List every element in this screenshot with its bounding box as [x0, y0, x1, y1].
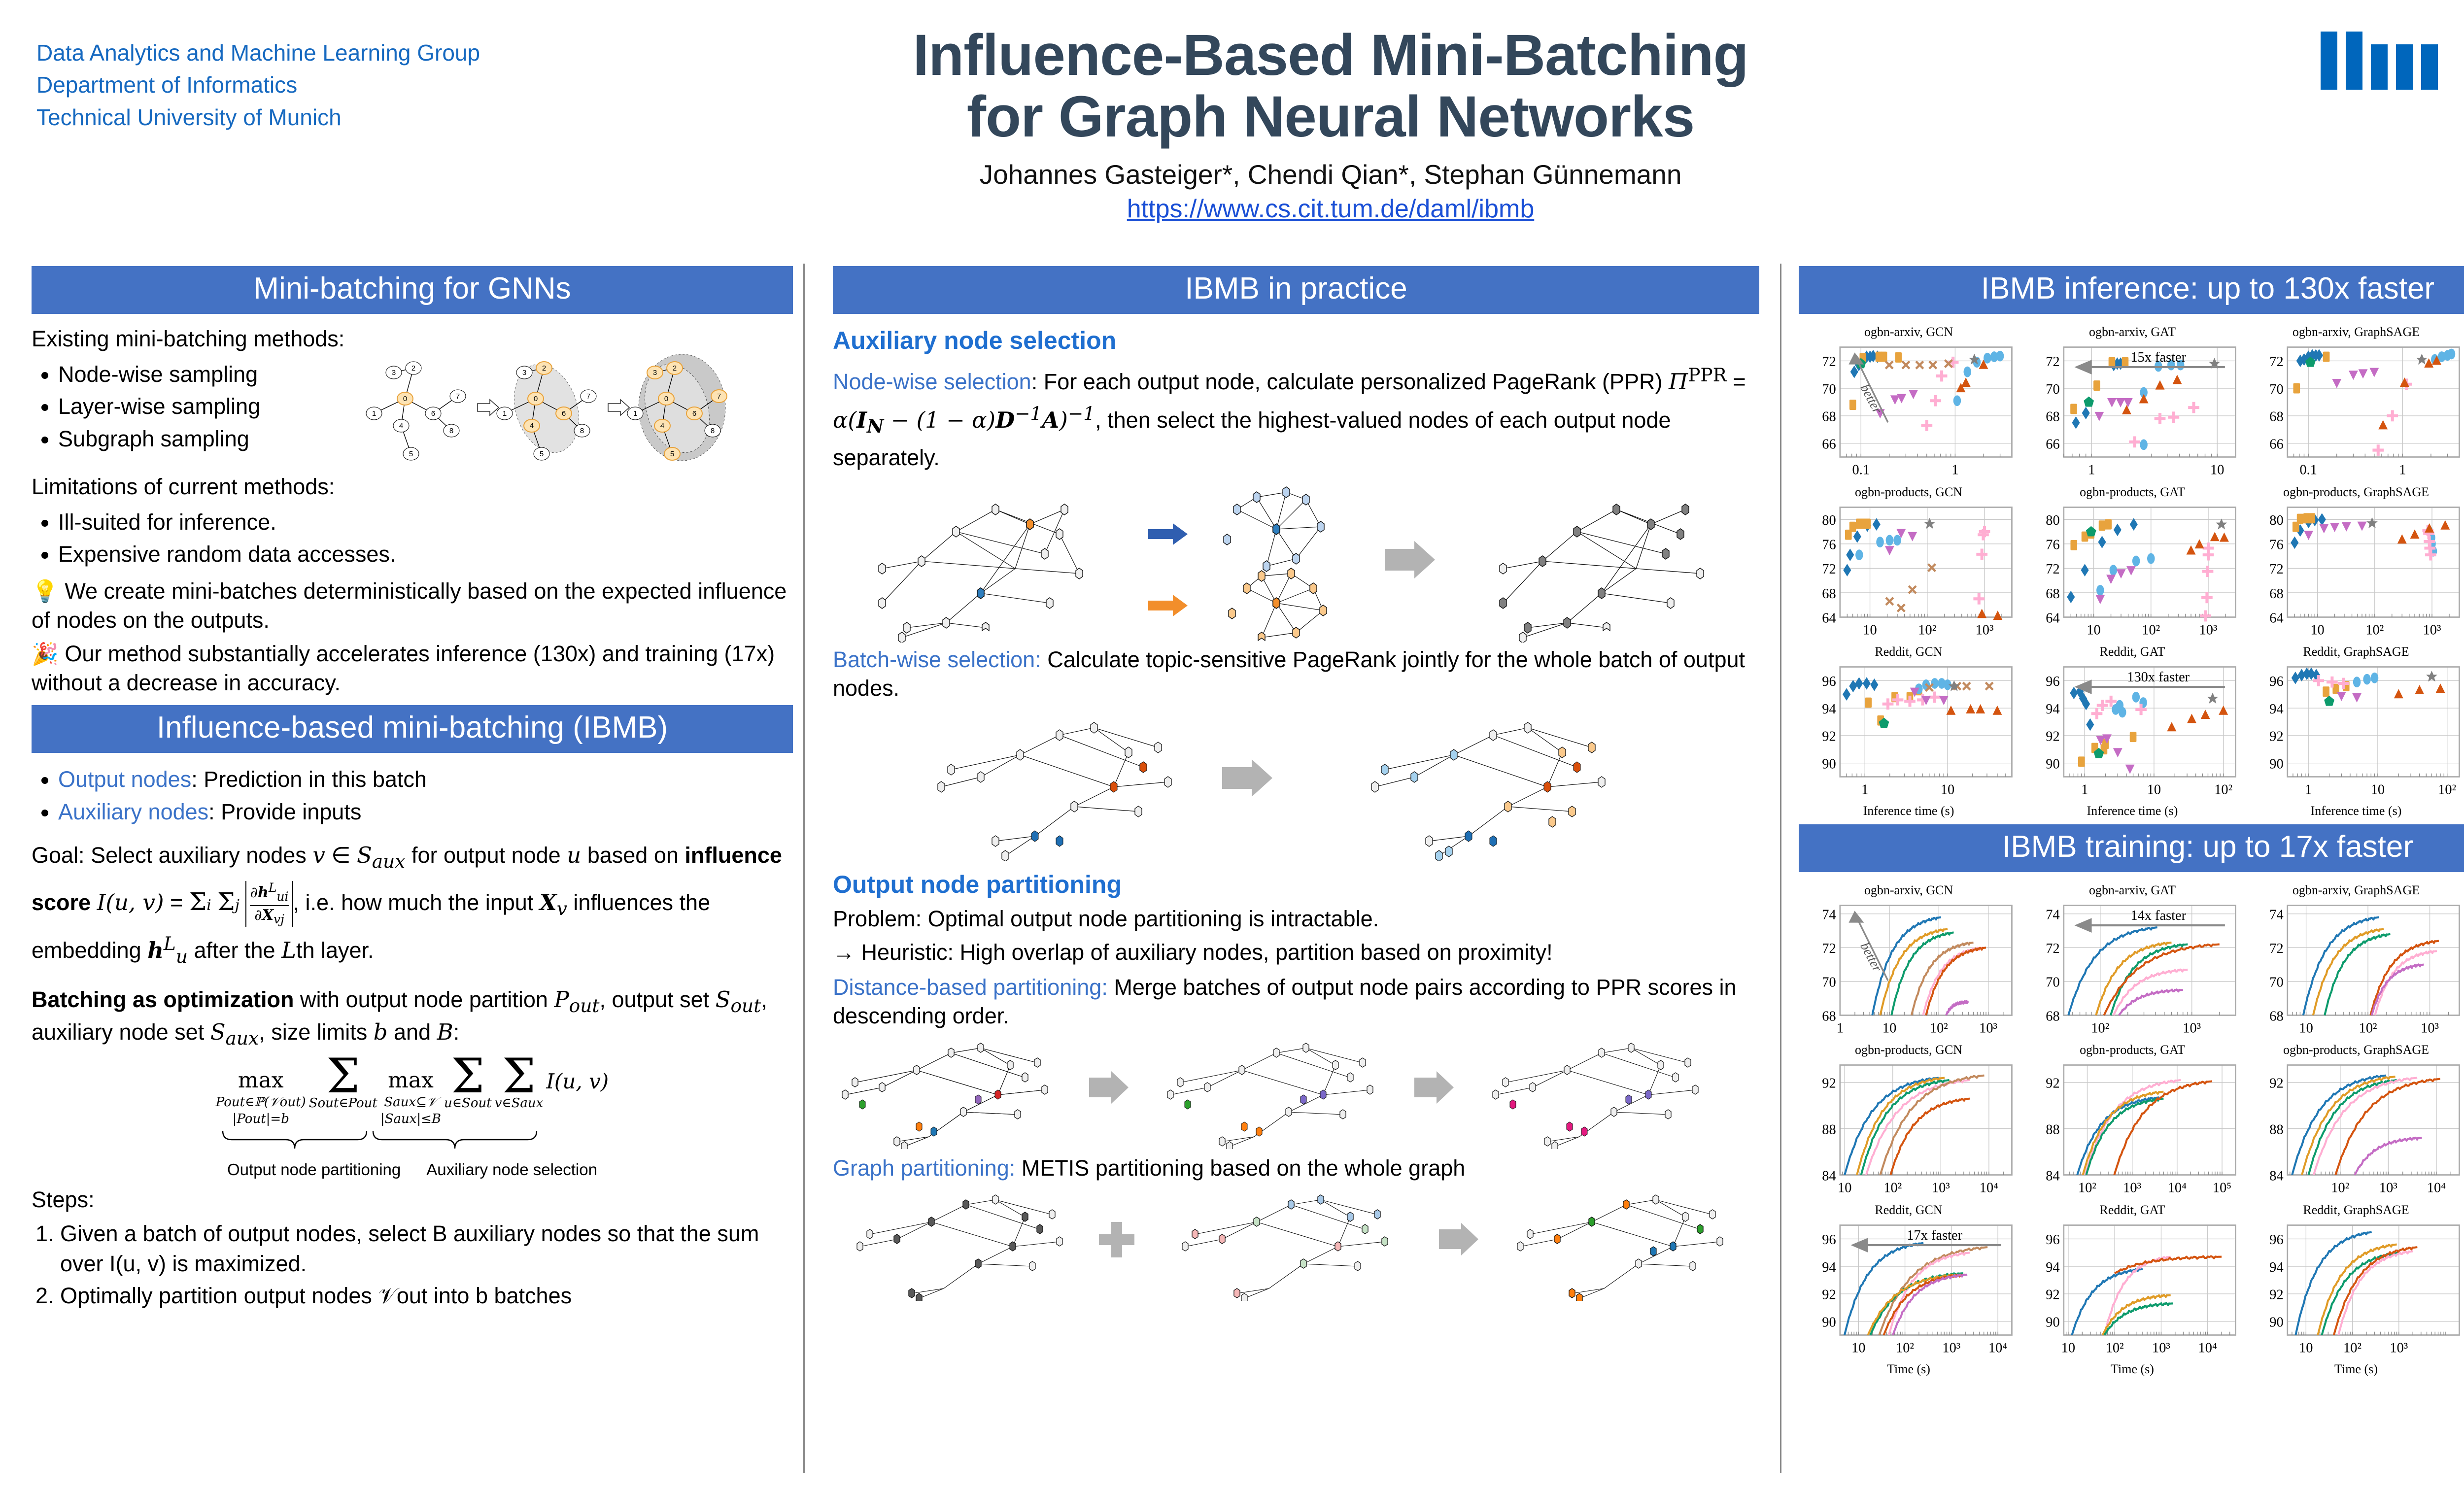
svg-text:2: 2: [411, 364, 415, 372]
svg-text:92: 92: [1822, 1287, 1836, 1303]
list-item: Given a batch of output nodes, select B …: [60, 1219, 793, 1279]
svg-text:10³: 10³: [1979, 1021, 1997, 1036]
chart-cell: ogbn-arxiv, GraphSAGE 687072741010²10³: [2246, 883, 2464, 1042]
grey-arrow-icon: [1414, 1071, 1454, 1104]
svg-text:74: 74: [2046, 907, 2059, 922]
chart-xlabel: Time (s): [2246, 1362, 2464, 1377]
chart-cell: ogbn-products, GCN 64687276801010²10³: [1799, 485, 2019, 644]
svg-text:66: 66: [2046, 437, 2059, 452]
page-title: Influence-Based Mini-Batching for Graph …: [769, 25, 1892, 148]
svg-text:64: 64: [1822, 610, 1836, 626]
svg-text:10⁴: 10⁴: [1988, 1341, 2007, 1356]
svg-text:68: 68: [2046, 586, 2059, 601]
chart-tr-arxiv-gcn: 6870727411010²10³ better: [1799, 899, 2019, 1042]
column-divider-2: [1780, 264, 1781, 1473]
svg-text:70: 70: [1822, 975, 1836, 990]
highlighted-output-node-orange: [1027, 519, 1033, 530]
chart-title: ogbn-products, GCN: [1799, 485, 2019, 500]
svg-text:68: 68: [1822, 1009, 1836, 1024]
svg-text:72: 72: [2046, 941, 2059, 956]
svg-text:70: 70: [2046, 382, 2059, 397]
svg-text:10²: 10²: [2214, 782, 2232, 798]
formula-max1-sub1: Pout∈ℙ(𝒱out): [216, 1094, 306, 1111]
training-results-area: ogbn-arxiv, GCN 6870727411010²10³ better…: [1799, 883, 2464, 1377]
formula-max2-sub2: |Saux|≤B: [380, 1111, 441, 1128]
svg-text:94: 94: [2046, 1260, 2059, 1275]
result-text: Our method substantially accelerates inf…: [32, 641, 775, 695]
goal-paragraph: Goal: Select auxiliary nodes v ∈ Saux fo…: [32, 835, 793, 974]
svg-text:72: 72: [2269, 562, 2283, 577]
svg-text:10²: 10²: [2142, 622, 2160, 638]
tum-logo: [2321, 32, 2446, 90]
svg-text:8: 8: [449, 427, 453, 435]
svg-text:7: 7: [456, 392, 460, 401]
subheading-output-partitioning: Output node partitioning: [833, 869, 1759, 901]
chart-cell: ogbn-arxiv, GCN 666870720.11 better: [1799, 325, 2019, 484]
chart-xlabel: Inference time (s): [2246, 804, 2464, 818]
chart-title: ogbn-arxiv, GraphSAGE: [2246, 325, 2464, 339]
chart-cell: Reddit, GraphSAGE 909294961010²10³ Time …: [2246, 1203, 2464, 1377]
logo-block: L G: [2321, 24, 2464, 98]
svg-text:6: 6: [692, 409, 696, 418]
batchwise-paragraph: Batch-wise selection: Calculate topic-se…: [833, 645, 1759, 703]
svg-text:80: 80: [2046, 513, 2059, 528]
svg-text:76: 76: [2046, 537, 2059, 552]
chart-title: ogbn-products, GraphSAGE: [2246, 485, 2464, 500]
chart-cell: Reddit, GCN 909294961010²10³10⁴ 17x fast…: [1799, 1203, 2019, 1377]
chart-cell: Reddit, GraphSAGE 9092949611010² Inferen…: [2246, 644, 2464, 818]
batching-paragraph: Batching as optimization with output nod…: [32, 985, 793, 1050]
svg-text:96: 96: [2046, 674, 2059, 689]
graphpart-term: Graph partitioning:: [833, 1155, 1015, 1181]
svg-text:10³: 10³: [2421, 1021, 2439, 1036]
svg-text:10³: 10³: [2152, 1341, 2170, 1356]
distance-partitioning-figure: [833, 1036, 1759, 1149]
optimization-formula: max Pout∈ℙ(𝒱out) |Pout|=b Σ Sout∈Pout ma…: [32, 1057, 793, 1181]
affiliation-line-1: Data Analytics and Machine Learning Grou…: [36, 37, 480, 69]
svg-text:84: 84: [1822, 1169, 1836, 1184]
svg-text:72: 72: [2269, 354, 2283, 370]
formula-sum1-sub: Sout∈Pout: [309, 1095, 377, 1112]
graphpart-text: METIS partitioning based on the whole gr…: [1015, 1155, 1465, 1181]
brace-label-right: Auxiliary node selection: [426, 1159, 597, 1181]
svg-text:10³: 10³: [1942, 1341, 1960, 1356]
svg-text:96: 96: [2269, 674, 2283, 689]
formula-braces: [141, 1128, 684, 1162]
svg-text:68: 68: [1822, 586, 1836, 601]
svg-text:10: 10: [1882, 1021, 1896, 1036]
node-type-list: Output nodes: Prediction in this batch A…: [32, 764, 793, 828]
svg-text:10: 10: [2087, 622, 2100, 638]
minibatching-diagram: 3 2 0 1 4 5 6 7 8: [347, 325, 793, 473]
chart-cell: ogbn-products, GraphSAGE 84889210²10³10⁴: [2246, 1043, 2464, 1202]
chart-cell: ogbn-arxiv, GCN 6870727411010²10³ better: [1799, 883, 2019, 1042]
svg-text:72: 72: [2046, 562, 2059, 577]
orange-arrow-icon: [1148, 595, 1188, 616]
grey-arrow-icon: [1222, 759, 1272, 797]
left-column: Mini-batching for GNNs Existing mini-bat…: [32, 266, 793, 1313]
svg-text:90: 90: [1822, 1315, 1836, 1330]
inference-chart-grid: ogbn-arxiv, GCN 666870720.11 better ogbn…: [1799, 325, 2464, 818]
list-item: Optimally partition output nodes 𝒱out in…: [60, 1281, 793, 1311]
svg-text:10: 10: [2061, 1341, 2075, 1356]
svg-text:96: 96: [2269, 1232, 2283, 1248]
svg-text:0: 0: [403, 395, 407, 403]
chart-cell: Reddit, GAT 909294961010²10³10⁴ Time (s): [2022, 1203, 2242, 1377]
practice-body: Auxiliary node selection Node-wise selec…: [833, 325, 1759, 1301]
svg-text:1: 1: [372, 409, 376, 418]
svg-text:74: 74: [1822, 907, 1836, 922]
nodewise-selection-figure: [833, 480, 1759, 643]
limitations-list: Ill-suited for inference. Expensive rand…: [32, 507, 793, 571]
formula-sum2-sub: u∈Sout: [444, 1095, 492, 1112]
svg-text:88: 88: [1822, 1122, 1836, 1138]
svg-text:10²: 10²: [2331, 1181, 2349, 1196]
output-nodes-term: Output nodes: [58, 767, 191, 792]
chart-xlabel: Inference time (s): [1799, 804, 2019, 818]
chart-tr-reddit-gat: 909294961010²10³10⁴: [2022, 1219, 2242, 1362]
batching-bold: Batching as optimization: [32, 987, 294, 1012]
chart-inf-reddit-gcn: 90929496110: [1799, 660, 2019, 804]
svg-text:10: 10: [2210, 463, 2224, 478]
chart-inf-arxiv-sage: 666870720.11: [2246, 340, 2464, 484]
chart-cell: ogbn-products, GCN 8488921010²10³10⁴: [1799, 1043, 2019, 1202]
svg-text:94: 94: [2269, 1260, 2283, 1275]
result-line: 🎉 Our method substantially accelerates i…: [32, 640, 793, 697]
svg-text:10³: 10³: [2390, 1341, 2408, 1356]
svg-text:96: 96: [1822, 1232, 1836, 1248]
svg-text:1: 1: [2088, 463, 2095, 478]
svg-text:94: 94: [1822, 702, 1836, 717]
output-nodes-desc: : Prediction in this batch: [191, 767, 427, 792]
chart-cell: ogbn-products, GraphSAGE 64687276801010²…: [2246, 485, 2464, 644]
svg-text:70: 70: [1822, 382, 1836, 397]
svg-text:10²: 10²: [1896, 1341, 1914, 1356]
formula-max2-sub1: Saux⊆𝒱: [380, 1094, 441, 1111]
right-column: IBMB inference: up to 130x faster ogbn-a…: [1799, 266, 2464, 1377]
svg-text:92: 92: [2269, 1287, 2283, 1303]
grey-arrow-icon: [1439, 1223, 1478, 1255]
svg-text:70: 70: [2046, 975, 2059, 990]
highlighted-output-node-blue: [977, 588, 984, 599]
svg-text:66: 66: [2269, 437, 2283, 452]
list-item: Layer-wise sampling: [58, 391, 347, 422]
svg-text:10²: 10²: [2359, 1021, 2377, 1036]
svg-text:68: 68: [2269, 409, 2283, 425]
svg-text:10³: 10³: [2123, 1181, 2141, 1196]
column-divider-1: [803, 264, 805, 1473]
author-list: Johannes Gasteiger*, Chendi Qian*, Steph…: [769, 159, 1892, 190]
chart-inf-products-gat: 64687276801010²10³: [2022, 501, 2242, 644]
svg-text:94: 94: [2269, 702, 2283, 717]
graphpart-paragraph: Graph partitioning: METIS partitioning b…: [833, 1154, 1759, 1183]
chart-tr-arxiv-gat: 6870727410²10³ 14x faster: [2022, 899, 2242, 1042]
svg-text:64: 64: [2269, 610, 2283, 626]
svg-text:10²: 10²: [2078, 1181, 2096, 1196]
svg-text:68: 68: [2046, 1009, 2059, 1024]
svg-text:2: 2: [673, 364, 677, 372]
svg-text:5: 5: [409, 450, 413, 458]
batchwise-selection-figure: [833, 708, 1759, 861]
svg-text:3: 3: [392, 369, 396, 377]
svg-text:0.1: 0.1: [1852, 463, 1869, 478]
svg-text:5: 5: [540, 450, 544, 458]
svg-text:10³: 10³: [2423, 622, 2441, 638]
svg-text:88: 88: [2046, 1122, 2059, 1138]
distance-term: Distance-based partitioning:: [833, 975, 1108, 1000]
svg-text:1: 1: [1837, 1021, 1844, 1036]
svg-text:72: 72: [1822, 941, 1836, 956]
chart-inf-products-sage: 64687276801010²10³: [2246, 501, 2464, 644]
grey-arrow-icon: [1385, 541, 1435, 578]
lightbulb-icon: 💡: [32, 579, 59, 604]
limitations-label: Limitations of current methods:: [32, 473, 793, 502]
chart-cell: Reddit, GCN 90929496110 Inference time (…: [1799, 644, 2019, 818]
formula-max1: max: [216, 1066, 306, 1094]
svg-text:better: better: [1857, 381, 1885, 416]
list-item: Ill-suited for inference.: [58, 507, 793, 538]
svg-text:10: 10: [1851, 1341, 1865, 1356]
svg-text:64: 64: [2046, 610, 2059, 626]
ibmb-body: Output nodes: Prediction in this batch A…: [32, 764, 793, 1311]
svg-text:4: 4: [530, 422, 534, 430]
section-header-ibmb: Influence-based mini-batching (IBMB): [32, 705, 793, 753]
formula-sum3-sub: v∈Saux: [495, 1095, 544, 1112]
svg-text:15x faster: 15x faster: [2130, 350, 2186, 365]
svg-text:1: 1: [633, 409, 637, 418]
svg-text:14x faster: 14x faster: [2130, 908, 2186, 923]
affiliation-line-2: Department of Informatics: [36, 69, 480, 101]
svg-text:3: 3: [522, 369, 526, 377]
chart-tr-reddit-gcn: 909294961010²10³10⁴ 17x faster: [1799, 1219, 2019, 1362]
middle-column: IBMB in practice Auxiliary node selectio…: [833, 266, 1759, 1301]
svg-text:10: 10: [1941, 782, 1954, 798]
svg-text:2: 2: [542, 364, 546, 372]
chart-title: ogbn-products, GCN: [1799, 1043, 2019, 1057]
svg-text:96: 96: [1822, 674, 1836, 689]
chart-cell: ogbn-arxiv, GraphSAGE 666870720.11: [2246, 325, 2464, 484]
svg-text:72: 72: [1822, 562, 1836, 577]
svg-text:10⁴: 10⁴: [2427, 1181, 2446, 1196]
affiliation-line-3: Technical University of Munich: [36, 102, 480, 134]
svg-text:10²: 10²: [2091, 1021, 2109, 1036]
plus-sign-icon: [1099, 1222, 1134, 1257]
svg-text:0: 0: [534, 395, 538, 403]
chart-cell: ogbn-products, GAT 64687276801010²10³: [2022, 485, 2242, 644]
svg-text:10³: 10³: [1976, 622, 1994, 638]
section-header-training: IBMB training: up to 17x faster: [1799, 824, 2464, 872]
svg-text:10³: 10³: [2183, 1021, 2201, 1036]
section-header-inference: IBMB inference: up to 130x faster: [1799, 266, 2464, 314]
svg-text:68: 68: [2269, 586, 2283, 601]
chart-tr-arxiv-sage: 687072741010²10³: [2246, 899, 2464, 1042]
svg-text:90: 90: [2269, 757, 2283, 772]
svg-text:1: 1: [1861, 782, 1868, 798]
chart-cell: ogbn-arxiv, GAT 6870727410²10³ 14x faste…: [2022, 883, 2242, 1042]
insight-line: 💡 We create mini-batches deterministical…: [32, 577, 793, 635]
svg-text:1: 1: [2305, 782, 2312, 798]
blue-arrow-icon: [1148, 523, 1188, 545]
auxiliary-nodes-term: Auxiliary nodes: [58, 799, 208, 824]
svg-text:90: 90: [2046, 1315, 2059, 1330]
problem-text: Problem: Optimal output node partitionin…: [833, 905, 1759, 934]
svg-text:70: 70: [2269, 382, 2283, 397]
list-item: Auxiliary nodes: Provide inputs: [58, 796, 793, 828]
formula-objective: I(u, v): [546, 1057, 609, 1095]
svg-text:92: 92: [2269, 729, 2283, 745]
brace-label-left: Output node partitioning: [227, 1159, 401, 1181]
chart-title: ogbn-products, GraphSAGE: [2246, 1043, 2464, 1057]
svg-text:10²: 10²: [1930, 1021, 1948, 1036]
chart-title: Reddit, GraphSAGE: [2246, 1203, 2464, 1218]
list-item: Output nodes: Prediction in this batch: [58, 764, 793, 795]
svg-text:7: 7: [717, 392, 721, 401]
svg-text:92: 92: [2046, 1287, 2059, 1303]
chart-xlabel: Inference time (s): [2022, 804, 2242, 818]
svg-text:92: 92: [1822, 1076, 1836, 1091]
party-popper-icon: 🎉: [32, 642, 59, 666]
svg-text:90: 90: [1822, 757, 1836, 772]
chart-inf-reddit-gat: 9092949611010² 130x faster: [2022, 660, 2242, 804]
svg-text:74: 74: [2269, 907, 2283, 922]
svg-text:10²: 10²: [2106, 1341, 2124, 1356]
page-title-line-2: for Graph Neural Networks: [769, 86, 1892, 148]
steps-list: Given a batch of output nodes, select B …: [32, 1219, 793, 1311]
existing-methods-label: Existing mini-batching methods:: [32, 325, 347, 354]
svg-text:90: 90: [2269, 1315, 2283, 1330]
svg-text:10³: 10³: [2379, 1181, 2397, 1196]
chart-title: Reddit, GCN: [1799, 1203, 2019, 1218]
training-chart-grid: ogbn-arxiv, GCN 6870727411010²10³ better…: [1799, 883, 2464, 1377]
svg-text:80: 80: [2269, 513, 2283, 528]
svg-text:10: 10: [2299, 1341, 2313, 1356]
svg-text:10²: 10²: [2343, 1341, 2361, 1356]
chart-tr-products-gcn: 8488921010²10³10⁴: [1799, 1058, 2019, 1202]
chart-inf-products-gcn: 64687276801010²10³: [1799, 501, 2019, 644]
svg-text:10⁴: 10⁴: [1980, 1181, 1998, 1196]
svg-text:92: 92: [2269, 1076, 2283, 1091]
svg-text:10²: 10²: [2365, 622, 2384, 638]
svg-text:6: 6: [431, 409, 435, 418]
svg-text:70: 70: [2269, 975, 2283, 990]
list-item: Node-wise sampling: [58, 359, 347, 390]
svg-text:3: 3: [653, 369, 657, 377]
svg-text:92: 92: [1822, 729, 1836, 745]
distance-paragraph: Distance-based partitioning: Merge batch…: [833, 973, 1759, 1031]
svg-text:0: 0: [664, 395, 668, 403]
svg-text:10: 10: [2299, 1021, 2313, 1036]
svg-text:1: 1: [2081, 782, 2088, 798]
chart-title: ogbn-arxiv, GAT: [2022, 325, 2242, 339]
chart-title: Reddit, GCN: [1799, 644, 2019, 659]
svg-text:6: 6: [562, 409, 566, 418]
chart-cell: ogbn-arxiv, GAT 66687072110 15x faster: [2022, 325, 2242, 484]
svg-text:10⁴: 10⁴: [2198, 1341, 2217, 1356]
svg-text:72: 72: [1822, 354, 1836, 370]
svg-text:17x faster: 17x faster: [1907, 1228, 1962, 1243]
list-item: Subgraph sampling: [58, 423, 347, 455]
svg-text:10: 10: [2310, 622, 2324, 638]
svg-text:92: 92: [2046, 1076, 2059, 1091]
auxiliary-nodes-desc: : Provide inputs: [208, 799, 361, 824]
list-item: Expensive random data accesses.: [58, 539, 793, 570]
svg-text:68: 68: [2046, 409, 2059, 425]
svg-text:68: 68: [2269, 1009, 2283, 1024]
svg-text:10²: 10²: [1883, 1181, 1902, 1196]
chart-inf-arxiv-gcn: 666870720.11 better: [1799, 340, 2019, 484]
svg-text:better: better: [1857, 940, 1885, 974]
svg-text:96: 96: [2046, 1232, 2059, 1248]
svg-text:66: 66: [1822, 437, 1836, 452]
inference-results-area: ogbn-arxiv, GCN 666870720.11 better ogbn…: [1799, 325, 2464, 818]
chart-title: ogbn-arxiv, GCN: [1799, 325, 2019, 339]
svg-text:10³: 10³: [1932, 1181, 1950, 1196]
svg-text:72: 72: [2046, 354, 2059, 370]
graph-partitioning-figure: [833, 1187, 1759, 1301]
svg-text:76: 76: [1822, 537, 1836, 552]
chart-title: ogbn-products, GAT: [2022, 1043, 2242, 1057]
section-header-practice: IBMB in practice: [833, 266, 1759, 314]
svg-text:10³: 10³: [2199, 622, 2218, 638]
existing-methods-list: Node-wise sampling Layer-wise sampling S…: [32, 359, 347, 455]
chart-inf-reddit-sage: 9092949611010²: [2246, 660, 2464, 804]
svg-text:72: 72: [2269, 941, 2283, 956]
affiliation-block: Data Analytics and Machine Learning Grou…: [36, 37, 480, 134]
heuristic-text: → Heuristic: High overlap of auxiliary n…: [833, 938, 1759, 967]
chart-title: ogbn-arxiv, GCN: [1799, 883, 2019, 898]
title-block: Influence-Based Mini-Batching for Graph …: [769, 25, 1892, 224]
svg-text:8: 8: [580, 427, 584, 435]
svg-text:1: 1: [503, 409, 507, 418]
chart-title: ogbn-arxiv, GAT: [2022, 883, 2242, 898]
svg-text:88: 88: [2269, 1122, 2283, 1138]
formula-max2: max: [380, 1066, 441, 1094]
grey-arrow-icon: [1089, 1071, 1129, 1104]
svg-text:10⁵: 10⁵: [2213, 1181, 2231, 1196]
insight-text: We create mini-batches deterministically…: [32, 578, 787, 633]
svg-text:1: 1: [1951, 463, 1958, 478]
chart-title: ogbn-products, GAT: [2022, 485, 2242, 500]
section-header-minibatching: Mini-batching for GNNs: [32, 266, 793, 314]
svg-text:84: 84: [2046, 1169, 2059, 1184]
svg-text:80: 80: [1822, 513, 1836, 528]
chart-title: Reddit, GraphSAGE: [2246, 644, 2464, 659]
svg-text:90: 90: [2046, 757, 2059, 772]
svg-text:5: 5: [670, 450, 674, 458]
nodewise-term: Node-wise selection: [833, 369, 1031, 394]
batchwise-term: Batch-wise selection:: [833, 647, 1041, 672]
chart-title: ogbn-arxiv, GraphSAGE: [2246, 883, 2464, 898]
svg-text:7: 7: [586, 392, 590, 401]
svg-text:10²: 10²: [1918, 622, 1936, 638]
project-url-link[interactable]: https://www.cs.cit.tum.de/daml/ibmb: [769, 194, 1892, 224]
svg-text:94: 94: [2046, 702, 2059, 717]
svg-text:130x faster: 130x faster: [2127, 670, 2190, 685]
svg-text:10: 10: [1838, 1181, 1851, 1196]
steps-label: Steps:: [32, 1185, 793, 1215]
svg-text:10²: 10²: [2438, 782, 2456, 798]
subheading-auxiliary-selection: Auxiliary node selection: [833, 325, 1759, 357]
svg-text:10: 10: [2371, 782, 2385, 798]
svg-text:76: 76: [2269, 537, 2283, 552]
chart-tr-products-gat: 84889210²10³10⁴10⁵: [2022, 1058, 2242, 1202]
svg-text:10⁴: 10⁴: [2168, 1181, 2187, 1196]
svg-text:8: 8: [711, 427, 715, 435]
svg-text:1: 1: [2399, 463, 2406, 478]
chart-xlabel: Time (s): [2022, 1362, 2242, 1377]
svg-text:4: 4: [660, 422, 664, 430]
chart-tr-products-sage: 84889210²10³10⁴: [2246, 1058, 2464, 1202]
